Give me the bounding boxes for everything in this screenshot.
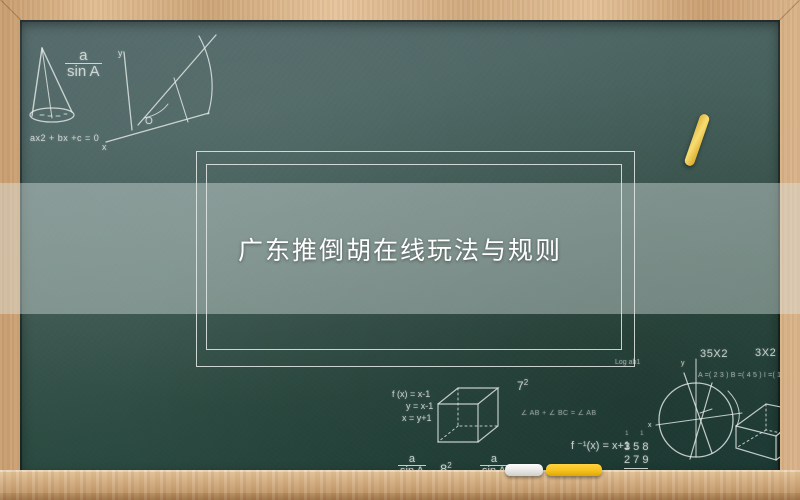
cube-diagram-left xyxy=(430,382,510,452)
chalk-tray-highlight xyxy=(0,470,800,472)
angle-arc-diagram xyxy=(104,30,224,155)
screenshot-root: a sin A ax2 + bx +c = 0 y x O f (x) = x-… xyxy=(0,0,800,500)
chalk-tray xyxy=(0,470,800,500)
page-title: 广东推倒胡在线玩法与规则 xyxy=(0,183,800,314)
white-chalk-on-tray[interactable] xyxy=(505,464,543,476)
cube-diagram-right xyxy=(732,390,780,465)
cone-diagram xyxy=(28,42,98,142)
yellow-chalk-on-tray[interactable] xyxy=(546,464,602,476)
chalk-tray-lip xyxy=(0,493,800,500)
